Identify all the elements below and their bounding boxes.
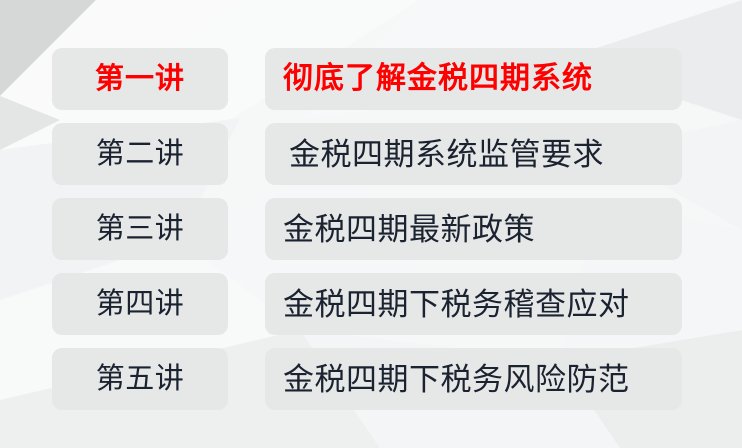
agenda-index-pill[interactable]: 第四讲 xyxy=(52,273,228,335)
agenda-title-pill[interactable]: 金税四期系统监管要求 xyxy=(265,123,682,185)
agenda-row[interactable]: 第二讲 金税四期系统监管要求 xyxy=(52,123,682,185)
agenda-index-pill[interactable]: 第三讲 xyxy=(52,198,228,260)
agenda-index-pill[interactable]: 第二讲 xyxy=(52,123,228,185)
agenda-row[interactable]: 第三讲 金税四期最新政策 xyxy=(52,198,682,260)
agenda-index-pill[interactable]: 第五讲 xyxy=(52,348,228,410)
agenda-title-label: 金税四期最新政策 xyxy=(283,214,535,245)
agenda-title-label: 彻底了解金税四期系统 xyxy=(283,64,593,94)
agenda-index-pill[interactable]: 第一讲 xyxy=(52,48,228,110)
agenda-title-pill[interactable]: 金税四期下税务风险防范 xyxy=(265,348,682,410)
agenda-title-pill[interactable]: 金税四期最新政策 xyxy=(265,198,682,260)
agenda-title-label: 金税四期下税务稽查应对 xyxy=(283,289,630,320)
agenda-row[interactable]: 第四讲 金税四期下税务稽查应对 xyxy=(52,273,682,335)
agenda-list: 第一讲 彻底了解金税四期系统 第二讲 金税四期系统监管要求 第三讲 金税四期最新… xyxy=(52,48,682,410)
agenda-index-label: 第二讲 xyxy=(96,140,185,169)
slide-canvas: 第一讲 彻底了解金税四期系统 第二讲 金税四期系统监管要求 第三讲 金税四期最新… xyxy=(0,0,742,448)
agenda-title-label: 金税四期系统监管要求 xyxy=(289,139,604,170)
agenda-row[interactable]: 第一讲 彻底了解金税四期系统 xyxy=(52,48,682,110)
agenda-index-label: 第四讲 xyxy=(96,290,185,319)
agenda-index-label: 第三讲 xyxy=(96,215,185,244)
agenda-index-label: 第一讲 xyxy=(95,65,185,94)
agenda-title-label: 金税四期下税务风险防范 xyxy=(283,364,630,395)
agenda-title-pill[interactable]: 彻底了解金税四期系统 xyxy=(265,48,682,110)
agenda-row[interactable]: 第五讲 金税四期下税务风险防范 xyxy=(52,348,682,410)
agenda-title-pill[interactable]: 金税四期下税务稽查应对 xyxy=(265,273,682,335)
agenda-index-label: 第五讲 xyxy=(96,365,185,394)
